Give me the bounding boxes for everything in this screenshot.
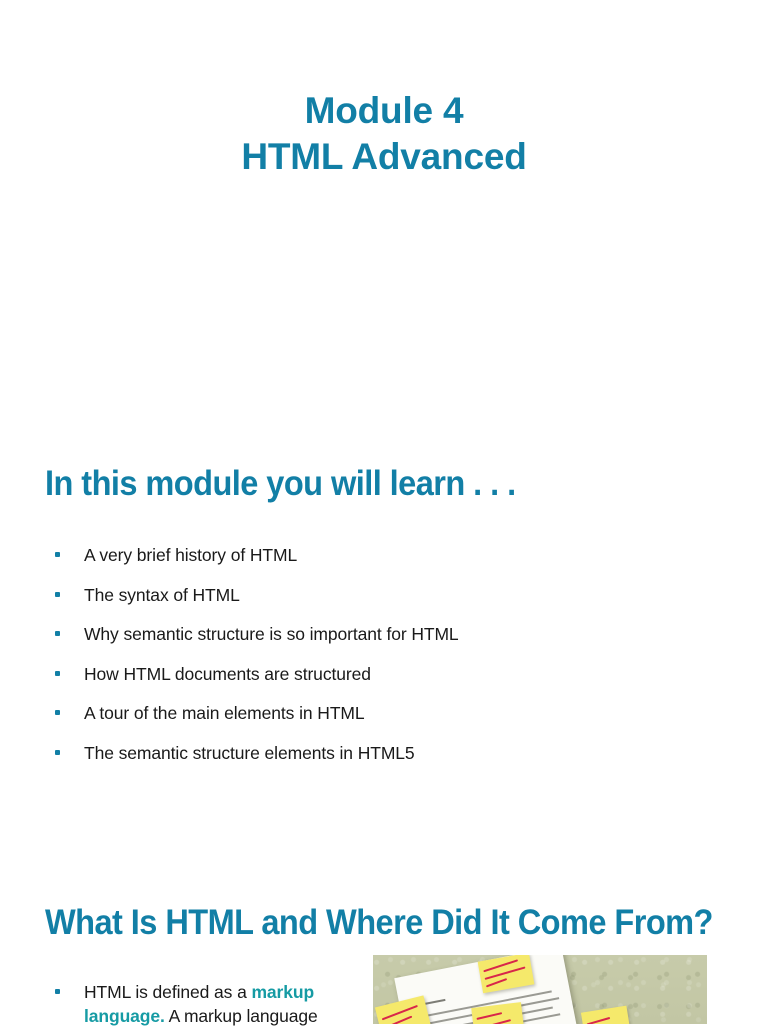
module-title-line-1: Module 4: [0, 88, 768, 134]
list-item-label: Why semantic structure is so important f…: [84, 624, 459, 644]
bullet-dot-icon: [55, 671, 60, 676]
objectives-bullet-list: A very brief history of HTML The syntax …: [0, 546, 768, 783]
bullet-dot-icon: [55, 989, 60, 994]
history-bullet-text-before: HTML is defined as a: [84, 982, 251, 1002]
history-heading: What Is HTML and Where Did It Come From?: [45, 903, 713, 943]
bullet-dot-icon: [55, 552, 60, 557]
list-item: Why semantic structure is so important f…: [0, 625, 768, 643]
history-content-row: HTML is defined as a markup language. A …: [0, 955, 768, 1024]
bullet-dot-icon: [55, 710, 60, 715]
slide-page: Module 4 HTML Advanced In this module yo…: [0, 0, 768, 1024]
history-text-column: HTML is defined as a markup language. A …: [0, 980, 360, 1028]
list-item: A very brief history of HTML: [0, 546, 768, 564]
objectives-heading: In this module you will learn . . .: [45, 464, 516, 504]
list-item-label: A very brief history of HTML: [84, 545, 297, 565]
list-item-label: A tour of the main elements in HTML: [84, 703, 365, 723]
module-title-line-2: HTML Advanced: [0, 134, 768, 180]
history-bullet-text-after: A markup language: [165, 1006, 318, 1026]
list-item: How HTML documents are structured: [0, 665, 768, 683]
list-item-label: The syntax of HTML: [84, 585, 240, 605]
bullet-dot-icon: [55, 750, 60, 755]
list-item: HTML is defined as a markup language. A …: [0, 980, 360, 1028]
list-item-label: How HTML documents are structured: [84, 664, 371, 684]
list-item: A tour of the main elements in HTML: [0, 704, 768, 722]
list-item-label: The semantic structure elements in HTML5: [84, 743, 415, 763]
title-slide-block: Module 4 HTML Advanced: [0, 88, 768, 180]
bullet-dot-icon: [55, 592, 60, 597]
sticky-notes-photo: [373, 955, 707, 1024]
bullet-dot-icon: [55, 631, 60, 636]
list-item: The semantic structure elements in HTML5: [0, 744, 768, 762]
list-item: The syntax of HTML: [0, 586, 768, 604]
